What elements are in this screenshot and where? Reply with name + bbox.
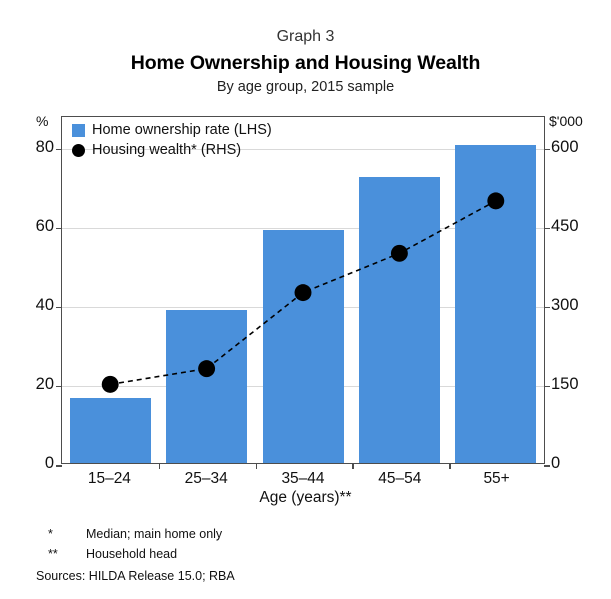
x-axis-tick [159,463,161,469]
chart-legend: Home ownership rate (LHS) Housing wealth… [72,121,272,161]
left-axis-tick [56,465,62,467]
data-point-25–34 [198,360,215,377]
right-axis-unit: $'000 [549,113,583,129]
x-axis-title: Age (years)** [0,489,611,507]
left-axis-unit: % [36,113,48,129]
left-axis-label-60: 60 [14,217,54,236]
legend-item-home-ownership: Home ownership rate (LHS) [72,121,272,139]
left-axis-tick [56,228,62,230]
x-axis-tick [352,463,354,469]
right-axis-label-600: 600 [551,138,611,157]
footnotes: * Median; main home only ** Household he… [48,527,222,567]
x-axis-label-55+: 55+ [447,470,547,488]
right-axis-label-300: 300 [551,296,611,315]
data-point-45–54 [391,245,408,262]
chart-title: Home Ownership and Housing Wealth [0,52,611,75]
right-axis-tick [544,465,550,467]
left-axis-tick [56,307,62,309]
footnote: ** Household head [48,547,222,561]
chart-page: Graph 3 Home Ownership and Housing Wealt… [0,0,611,599]
plot-area [61,116,545,464]
data-point-15–24 [102,376,119,393]
right-axis-label-0: 0 [551,454,611,473]
left-axis-label-80: 80 [14,138,54,157]
x-axis-label-25–34: 25–34 [156,470,256,488]
footnote-mark: ** [48,547,86,561]
data-point-55+ [487,192,504,209]
x-axis-label-15–24: 15–24 [59,470,159,488]
left-axis-label-0: 0 [14,454,54,473]
legend-label: Home ownership rate (LHS) [92,122,272,138]
legend-circle-icon [72,144,85,157]
left-axis-tick [56,149,62,151]
legend-square-icon [72,124,85,137]
footnote: * Median; main home only [48,527,222,541]
x-axis-tick [449,463,451,469]
left-axis-label-40: 40 [14,296,54,315]
footnote-text: Median; main home only [86,527,222,541]
footnote-text: Household head [86,547,177,561]
right-axis-label-150: 150 [551,375,611,394]
left-axis-tick [56,386,62,388]
legend-label: Housing wealth* (RHS) [92,142,241,158]
right-axis-tick [544,149,550,151]
right-axis-tick [544,307,550,309]
x-axis-tick [256,463,258,469]
chart-subtitle: By age group, 2015 sample [0,79,611,95]
data-point-35–44 [295,284,312,301]
left-axis-label-20: 20 [14,375,54,394]
right-axis-tick [544,228,550,230]
legend-item-housing-wealth: Housing wealth* (RHS) [72,141,272,159]
sources-line: Sources: HILDA Release 15.0; RBA [36,569,235,583]
x-axis-label-35–44: 35–44 [253,470,353,488]
graph-number: Graph 3 [0,28,611,46]
right-axis-tick [544,386,550,388]
housing-wealth-line-series [62,117,544,463]
x-axis-label-45–54: 45–54 [350,470,450,488]
right-axis-label-450: 450 [551,217,611,236]
footnote-mark: * [48,527,86,541]
